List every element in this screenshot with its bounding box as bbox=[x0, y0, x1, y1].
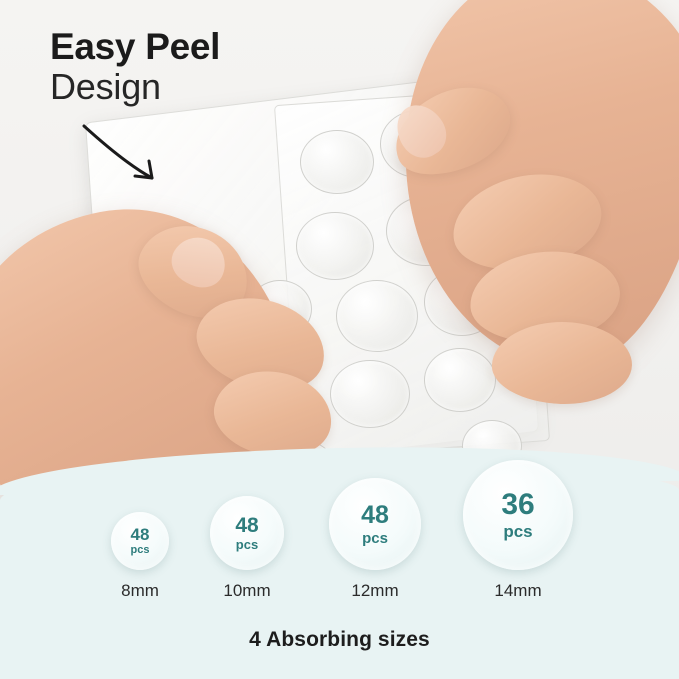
size-item-10mm: 48 pcs 10mm bbox=[185, 496, 309, 601]
size-item-8mm: 48 pcs 8mm bbox=[78, 512, 202, 601]
patch-sample: 36 pcs bbox=[463, 460, 573, 570]
patch-unit: pcs bbox=[131, 545, 150, 556]
page-title: Easy Peel Design bbox=[50, 28, 220, 105]
patch-count: 36 bbox=[501, 490, 534, 520]
patch-dot bbox=[296, 212, 374, 280]
patch-count: 48 bbox=[235, 515, 258, 536]
patch-sample: 48 pcs bbox=[210, 496, 284, 570]
patch-count: 48 bbox=[131, 526, 150, 543]
patch-dot bbox=[424, 348, 496, 412]
patch-sample: 48 pcs bbox=[111, 512, 169, 570]
patch-dot bbox=[330, 360, 410, 428]
patch-unit: pcs bbox=[503, 523, 532, 540]
caption: 4 Absorbing sizes bbox=[0, 628, 679, 652]
patch-size-label: 10mm bbox=[185, 581, 309, 601]
patch-unit: pcs bbox=[362, 531, 388, 546]
patch-unit: pcs bbox=[236, 538, 258, 551]
product-infographic: Easy Peel Design 48 pcs 8mm 48 pcs 10mm … bbox=[0, 0, 679, 679]
patch-size-label: 8mm bbox=[78, 581, 202, 601]
headline-line-2: Design bbox=[50, 69, 220, 106]
curved-arrow-icon bbox=[78, 120, 168, 200]
patch-dot bbox=[336, 280, 418, 352]
patch-count: 48 bbox=[361, 503, 389, 528]
patch-dot bbox=[300, 130, 374, 194]
patch-sample: 48 pcs bbox=[329, 478, 421, 570]
headline-line-1: Easy Peel bbox=[50, 28, 220, 66]
patch-size-label: 12mm bbox=[308, 581, 442, 601]
size-item-12mm: 48 pcs 12mm bbox=[308, 478, 442, 601]
size-item-14mm: 36 pcs 14mm bbox=[446, 460, 590, 601]
patch-size-label: 14mm bbox=[446, 581, 590, 601]
